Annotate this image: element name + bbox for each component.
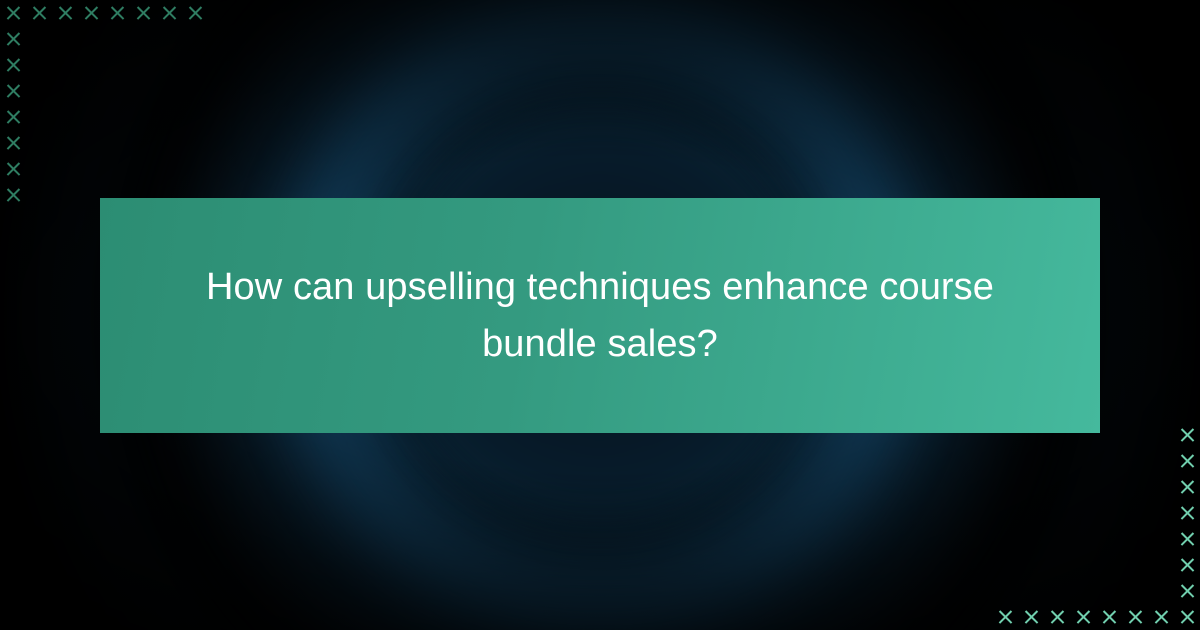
question-card-canvas: How can upselling techniques enhance cou… [0,0,1200,630]
x-icon [0,156,26,182]
x-icon [0,182,26,208]
x-icon [1174,552,1200,578]
top-left-x-pattern [0,0,208,208]
x-icon [1018,604,1044,630]
x-icon [0,26,26,52]
x-icon [1174,422,1200,448]
x-icon [104,0,130,26]
x-icon [1174,526,1200,552]
x-icon [1174,500,1200,526]
x-icon [1096,604,1122,630]
x-icon [182,0,208,26]
question-title: How can upselling techniques enhance cou… [200,259,1000,373]
x-icon [52,0,78,26]
x-icon [1174,578,1200,604]
x-icon [26,0,52,26]
question-banner: How can upselling techniques enhance cou… [100,198,1100,433]
x-icon [130,0,156,26]
x-icon [1174,474,1200,500]
x-icon [1044,604,1070,630]
x-icon [0,52,26,78]
x-icon [0,130,26,156]
x-icon [1174,604,1200,630]
x-icon [0,104,26,130]
x-icon [992,604,1018,630]
bottom-right-x-pattern [992,422,1200,630]
x-icon [156,0,182,26]
x-icon [1148,604,1174,630]
x-icon [0,0,26,26]
x-icon [78,0,104,26]
x-icon [1174,448,1200,474]
x-icon [0,78,26,104]
x-icon [1070,604,1096,630]
x-icon [1122,604,1148,630]
